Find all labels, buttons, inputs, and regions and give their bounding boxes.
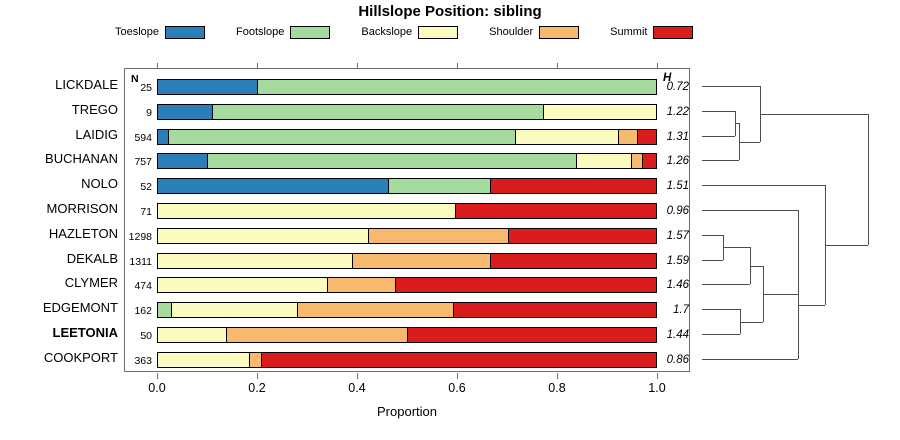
- dendrogram-link: [750, 266, 763, 267]
- legend-label: Toeslope: [115, 26, 159, 38]
- category-label-nolo: NOLO: [2, 176, 118, 191]
- x-tick-label: 0.6: [448, 381, 465, 395]
- dendrogram-link: [702, 160, 739, 161]
- x-tick-label: 1.0: [648, 381, 665, 395]
- x-tick-label: 0.4: [348, 381, 365, 395]
- h-value: 1.59: [659, 255, 689, 267]
- n-value: 1298: [126, 231, 152, 243]
- stacked-bar: [157, 253, 657, 269]
- legend-swatch-toeslope: [165, 26, 205, 39]
- stacked-bar: [157, 79, 657, 95]
- bar-segment-backslope: [544, 105, 656, 119]
- stacked-bar: [157, 228, 657, 244]
- bar-segment-toeslope: [158, 179, 389, 193]
- x-tick: [357, 63, 358, 69]
- dendrogram-link: [763, 294, 798, 295]
- dendrogram-link: [702, 284, 750, 285]
- bar-segment-shoulder: [632, 154, 643, 168]
- category-label-buchanan: BUCHANAN: [2, 151, 118, 166]
- chart-title: Hillslope Position: sibling: [0, 3, 900, 20]
- legend-item-backslope: Backslope: [361, 26, 458, 39]
- h-value: 0.96: [659, 205, 689, 217]
- bar-segment-shoulder: [227, 328, 408, 342]
- bar-segment-shoulder: [250, 353, 262, 367]
- figure-root: Hillslope Position: sibling ToeslopeFoot…: [0, 0, 900, 440]
- stacked-bar: [157, 104, 657, 120]
- bar-segment-backslope: [577, 154, 632, 168]
- h-value: 1.51: [659, 180, 689, 192]
- dendrogram-link: [739, 142, 760, 143]
- stacked-bar: [157, 153, 657, 169]
- bar-row: 1621.7: [125, 300, 691, 325]
- bar-segment-footslope: [213, 105, 544, 119]
- h-value: 1.7: [659, 304, 689, 316]
- x-tick: [157, 63, 158, 69]
- legend-item-summit: Summit: [610, 26, 693, 39]
- bar-row: 501.44: [125, 325, 691, 350]
- stacked-bar: [157, 352, 657, 368]
- dendrogram-link: [702, 210, 798, 211]
- category-label-cookport: COOKPORT: [2, 350, 118, 365]
- category-label-trego: TREGO: [2, 102, 118, 117]
- dendrogram-link: [760, 114, 868, 115]
- bar-segment-backslope: [158, 353, 250, 367]
- stacked-bar: [157, 302, 657, 318]
- n-value: 474: [126, 280, 152, 292]
- dendrogram-link: [825, 245, 868, 246]
- bar-segment-backslope: [158, 278, 328, 292]
- category-label-edgemont: EDGEMONT: [2, 300, 118, 315]
- n-value: 25: [126, 82, 152, 94]
- h-value: 1.44: [659, 329, 689, 341]
- bar-segment-backslope: [158, 204, 456, 218]
- bar-segment-backslope: [158, 229, 369, 243]
- legend-swatch-backslope: [418, 26, 458, 39]
- category-label-lickdale: LICKDALE: [2, 77, 118, 92]
- bar-row: 91.22: [125, 102, 691, 127]
- h-value: 1.46: [659, 279, 689, 291]
- x-tick-label: 0.8: [548, 381, 565, 395]
- stacked-bar: [157, 129, 657, 145]
- dendrogram-link: [868, 114, 869, 245]
- bar-segment-toeslope: [158, 105, 213, 119]
- bar-segment-footslope: [158, 303, 172, 317]
- bar-row: 710.96: [125, 201, 691, 226]
- dendrogram-link: [702, 111, 735, 112]
- x-tick: [257, 63, 258, 69]
- bar-segment-summit: [408, 328, 656, 342]
- bar-segment-footslope: [258, 80, 656, 94]
- legend-swatch-shoulder: [539, 26, 579, 39]
- dendrogram: [690, 68, 900, 372]
- bar-segment-toeslope: [158, 130, 169, 144]
- n-value: 594: [126, 132, 152, 144]
- category-label-laidig: LAIDIG: [2, 127, 118, 142]
- bar-segment-backslope: [172, 303, 298, 317]
- legend-label: Summit: [610, 26, 647, 38]
- bar-segment-footslope: [208, 154, 578, 168]
- bar-segment-summit: [643, 154, 656, 168]
- stacked-bar: [157, 178, 657, 194]
- dendrogram-link: [702, 334, 740, 335]
- bar-segment-shoulder: [298, 303, 453, 317]
- bar-segment-backslope: [516, 130, 619, 144]
- bar-segment-summit: [262, 353, 656, 367]
- legend-item-footslope: Footslope: [236, 26, 330, 39]
- bar-row: 12981.57: [125, 226, 691, 251]
- category-label-hazleton: HAZLETON: [2, 226, 118, 241]
- bar-segment-summit: [491, 254, 656, 268]
- bar-segment-backslope: [158, 328, 227, 342]
- bar-segment-backslope: [158, 254, 353, 268]
- bar-segment-shoulder: [369, 229, 508, 243]
- bar-segment-shoulder: [619, 130, 638, 144]
- bar-row: 7571.26: [125, 151, 691, 176]
- legend-label: Footslope: [236, 26, 284, 38]
- n-value: 50: [126, 330, 152, 342]
- n-value: 162: [126, 305, 152, 317]
- bar-segment-summit: [456, 204, 656, 218]
- bar-segment-shoulder: [353, 254, 490, 268]
- x-tick-label: 0.0: [148, 381, 165, 395]
- stacked-bar: [157, 277, 657, 293]
- legend-swatch-footslope: [290, 26, 330, 39]
- plot-panel: 0.00.20.40.60.81.0 250.7291.225941.31757…: [124, 68, 690, 372]
- column-header-n: N: [131, 73, 139, 85]
- x-axis-title: Proportion: [124, 404, 690, 419]
- legend-label: Backslope: [361, 26, 412, 38]
- bar-segment-toeslope: [158, 80, 258, 94]
- h-value: 1.26: [659, 155, 689, 167]
- dendrogram-link: [702, 86, 760, 87]
- h-value: 1.22: [659, 106, 689, 118]
- legend-item-shoulder: Shoulder: [489, 26, 579, 39]
- category-label-clymer: CLYMER: [2, 275, 118, 290]
- bar-segment-toeslope: [158, 154, 208, 168]
- dendrogram-link: [723, 247, 750, 248]
- dendrogram-link: [702, 309, 740, 310]
- h-value: 1.57: [659, 230, 689, 242]
- bar-row: 250.72: [125, 77, 691, 102]
- legend-label: Shoulder: [489, 26, 533, 38]
- dendrogram-link: [798, 305, 825, 306]
- dendrogram-link: [702, 185, 825, 186]
- category-label-morrison: MORRISON: [2, 201, 118, 216]
- bar-row: 521.51: [125, 176, 691, 201]
- n-value: 52: [126, 181, 152, 193]
- bar-row: 13111.59: [125, 251, 691, 276]
- bar-segment-summit: [509, 229, 656, 243]
- bar-segment-shoulder: [328, 278, 396, 292]
- n-value: 71: [126, 206, 152, 218]
- bar-segment-summit: [396, 278, 656, 292]
- bar-segment-footslope: [389, 179, 491, 193]
- category-label-dekalb: DEKALB: [2, 251, 118, 266]
- bar-segment-summit: [454, 303, 656, 317]
- category-label-leetonia: LEETONIA: [2, 325, 118, 340]
- dendrogram-link: [702, 235, 723, 236]
- x-tick: [557, 63, 558, 69]
- h-value: 0.86: [659, 354, 689, 366]
- bar-row: 5941.31: [125, 127, 691, 152]
- stacked-bar: [157, 203, 657, 219]
- bar-row: 3630.86: [125, 350, 691, 375]
- bar-row: 4741.46: [125, 275, 691, 300]
- x-tick-label: 0.2: [248, 381, 265, 395]
- dendrogram-link: [702, 136, 735, 137]
- h-value: 1.31: [659, 131, 689, 143]
- bar-segment-summit: [638, 130, 656, 144]
- legend-item-toeslope: Toeslope: [115, 26, 205, 39]
- n-value: 363: [126, 355, 152, 367]
- n-value: 757: [126, 156, 152, 168]
- n-value: 1311: [126, 256, 152, 268]
- n-value: 9: [126, 107, 152, 119]
- stacked-bar: [157, 327, 657, 343]
- x-tick: [457, 63, 458, 69]
- bar-segment-footslope: [169, 130, 516, 144]
- bar-segment-summit: [491, 179, 656, 193]
- dendrogram-link: [702, 359, 798, 360]
- dendrogram-link: [740, 322, 763, 323]
- x-tick: [657, 63, 658, 69]
- dendrogram-link: [702, 260, 723, 261]
- legend: ToeslopeFootslopeBackslopeShoulderSummit: [115, 24, 815, 40]
- column-header-h: H: [663, 72, 671, 84]
- legend-swatch-summit: [653, 26, 693, 39]
